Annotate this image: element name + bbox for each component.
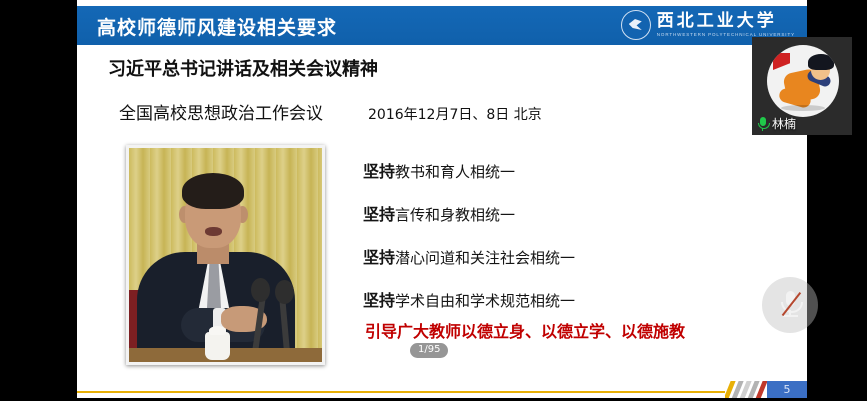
microphone-muted-icon	[779, 290, 801, 320]
page-progress-badge: 1/95	[410, 343, 448, 358]
bullet-keyword: 坚持	[363, 162, 395, 181]
slide-header-bar: 高校师德师风建设相关要求 西北工业大学 NORTHWESTERN POLYTEC…	[77, 6, 807, 45]
university-crest-icon	[621, 10, 651, 40]
presentation-slide: 高校师德师风建设相关要求 西北工业大学 NORTHWESTERN POLYTEC…	[77, 0, 807, 398]
speaker-photo	[126, 145, 325, 365]
slide-header-title: 高校师德师风建设相关要求	[97, 13, 337, 40]
footer-rule	[77, 391, 725, 393]
slide-number: 5	[767, 381, 807, 398]
footer-stripes-decoration	[725, 381, 769, 398]
slide-subject-heading: 习近平总书记讲话及相关会议精神	[108, 55, 378, 81]
participant-nameplate: 林楠	[756, 115, 796, 132]
speaker-photo-image	[129, 148, 322, 362]
bullet-text: 学术自由和学术规范相统一	[395, 292, 575, 310]
mute-toggle-button[interactable]	[762, 277, 818, 333]
meeting-date: 2016年12月7日、8日 北京	[368, 104, 542, 124]
screen-root: 高校师德师风建设相关要求 西北工业大学 NORTHWESTERN POLYTEC…	[0, 0, 867, 401]
university-logo: 西北工业大学 NORTHWESTERN POLYTECHNICAL UNIVER…	[621, 10, 795, 40]
meeting-info-row: 全国高校思想政治工作会议 2016年12月7日、8日 北京	[119, 99, 542, 124]
avatar	[767, 45, 839, 117]
bullet-text: 潜心问道和关注社会相统一	[395, 249, 575, 267]
bullet-keyword: 坚持	[363, 248, 395, 267]
bullet-item: 坚持学术自由和学术规范相统一	[363, 287, 783, 311]
university-name-cn: 西北工业大学	[657, 13, 795, 30]
highlight-statement: 引导广大教师以德立身、以德立学、以德施教	[365, 318, 685, 342]
bullet-keyword: 坚持	[363, 291, 395, 310]
participant-video-tile[interactable]: 林楠	[752, 37, 852, 135]
microphone-on-icon	[756, 116, 769, 131]
bullet-keyword: 坚持	[363, 205, 395, 224]
meeting-name: 全国高校思想政治工作会议	[119, 99, 323, 124]
bullet-text: 教书和育人相统一	[395, 163, 515, 181]
participant-name: 林楠	[772, 115, 796, 132]
bullet-text: 言传和身教相统一	[395, 206, 515, 224]
bullet-item: 坚持言传和身教相统一	[363, 201, 783, 225]
bullet-item: 坚持教书和育人相统一	[363, 158, 783, 182]
university-logo-text: 西北工业大学 NORTHWESTERN POLYTECHNICAL UNIVER…	[657, 13, 795, 38]
bullet-list: 坚持教书和育人相统一 坚持言传和身教相统一 坚持潜心问道和关注社会相统一 坚持学…	[363, 158, 783, 330]
bullet-item: 坚持潜心问道和关注社会相统一	[363, 244, 783, 268]
